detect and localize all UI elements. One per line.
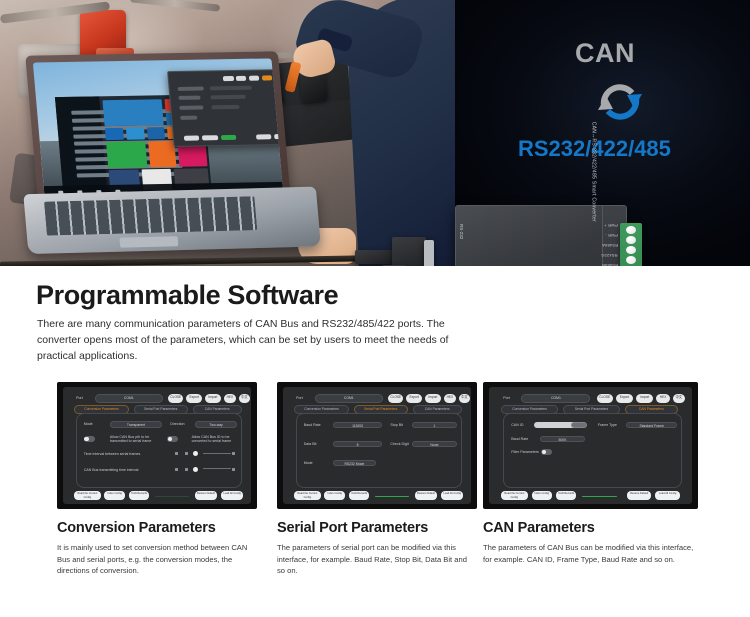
hero-banner: CAN RS232/422/485 CAN↔RS-232/422/485 Sma… xyxy=(0,0,750,266)
laptop-base xyxy=(23,187,321,254)
start-tile xyxy=(126,127,145,140)
restore-default-button[interactable]: Restore Default xyxy=(195,491,218,500)
laptop-screen xyxy=(33,58,283,198)
terminal-label: PWR + xyxy=(604,223,618,228)
filter-parameters-toggle[interactable] xyxy=(541,449,552,455)
export-button[interactable]: Export xyxy=(186,394,202,403)
data-bit-select[interactable]: 8 xyxy=(333,441,382,448)
index-config-button[interactable]: Index Config xyxy=(324,491,345,500)
terminal-label: RS422G xyxy=(601,253,618,258)
mode-select[interactable]: RS232 Mode xyxy=(333,460,375,467)
software-screenshot-can[interactable]: Port COM1 CLOSE Export Import HEX 中文 Con… xyxy=(483,382,698,509)
terminal-label: RS485A xyxy=(602,243,618,248)
product-feature-page: CAN RS232/422/485 CAN↔RS-232/422/485 Sma… xyxy=(0,0,750,617)
language-button[interactable]: 中文 xyxy=(239,394,250,403)
panel-body: Baud Rate 115200 Stop Bit 1 Data Bit 8 C… xyxy=(296,413,461,488)
port-label: Port xyxy=(296,396,303,400)
language-button[interactable]: 中文 xyxy=(673,394,685,403)
mode-select[interactable]: Transparent xyxy=(110,421,162,428)
start-tile xyxy=(146,127,165,140)
cycle-arrows-icon xyxy=(592,76,648,126)
filter-parameters-label: Filter Parameters xyxy=(511,450,539,454)
start-tile xyxy=(148,141,177,167)
port-select[interactable]: COM1 xyxy=(95,394,163,403)
toggle-can-id-to-serial[interactable] xyxy=(167,436,178,442)
mode-label: Mode xyxy=(304,461,313,465)
toggle-can-to-serial[interactable] xyxy=(84,436,95,442)
can-label: CAN xyxy=(575,38,635,69)
dsub-faceplate xyxy=(424,240,434,266)
mode-label: Mode xyxy=(84,422,93,426)
feature-column-conversion: Port COM1 CLOSE Export Import HEX 中文 Con… xyxy=(57,382,257,577)
import-button[interactable]: Import xyxy=(636,394,653,403)
screw-terminal-block xyxy=(620,223,642,266)
close-button[interactable]: CLOSE xyxy=(388,394,403,403)
dsub-connector-lower xyxy=(382,265,406,266)
hex-button[interactable]: HEX xyxy=(444,394,456,403)
can-interval-label: CAN Bus transmitting time interval xyxy=(84,468,139,472)
load-all-config-button[interactable]: Load All Config xyxy=(655,491,679,500)
can-id-label: CAN ID xyxy=(511,423,523,427)
index-config-button[interactable]: Index Config xyxy=(104,491,125,500)
check-digit-select[interactable]: None xyxy=(412,441,458,448)
terminal-label: RS485B xyxy=(602,263,618,266)
hex-button[interactable]: HEX xyxy=(656,394,669,403)
caption-description: The parameters of serial port can be mod… xyxy=(277,542,477,577)
content-section: Programmable Software There are many com… xyxy=(0,266,750,617)
baud-rate-select[interactable]: 115200 xyxy=(333,422,382,429)
laptop-lid xyxy=(25,51,291,205)
stop-bit-select[interactable]: 1 xyxy=(412,422,458,429)
port-label: Port xyxy=(76,396,83,400)
check-digit-label: Check Digit xyxy=(390,442,408,446)
device-rs232-port-label: RS-232 xyxy=(459,224,464,239)
load-all-config-button[interactable]: Load All Config xyxy=(441,491,464,500)
terminal-label: PWR - xyxy=(605,233,618,238)
laptop-keyboard xyxy=(44,196,257,235)
caption-description: The parameters of CAN Bus can be modifie… xyxy=(483,542,698,565)
restore-default-button[interactable]: Restore Default xyxy=(627,491,651,500)
software-screenshot-conversion[interactable]: Port COM1 CLOSE Export Import HEX 中文 Con… xyxy=(57,382,257,509)
start-tile xyxy=(105,128,124,141)
can-interval-slider[interactable] xyxy=(193,467,198,472)
software-screenshot-serial[interactable]: Port COM1 CLOSE Export Import HEX 中文 Con… xyxy=(277,382,477,509)
stop-bit-label: Stop Bit xyxy=(390,423,403,427)
can-id-set-button[interactable] xyxy=(571,422,587,429)
import-button[interactable]: Import xyxy=(205,394,221,403)
export-button[interactable]: Export xyxy=(616,394,633,403)
read-current-config-button[interactable]: Read the Current Config xyxy=(294,491,320,500)
feature-column-can: Port COM1 CLOSE Export Import HEX 中文 Con… xyxy=(483,382,698,565)
device-model-text: CAN↔RS-232/422/485 Smart Converter xyxy=(590,122,596,222)
start-tile xyxy=(103,99,164,125)
frame-type-select[interactable]: Standard Frame xyxy=(626,422,677,429)
port-select[interactable]: COM1 xyxy=(521,394,590,403)
port-select[interactable]: COM1 xyxy=(315,394,383,403)
caption-title: CAN Parameters xyxy=(483,520,698,536)
direction-label: Direction xyxy=(170,422,184,426)
engine-hose xyxy=(130,0,220,12)
import-button[interactable]: Import xyxy=(425,394,441,403)
close-button[interactable]: CLOSE xyxy=(168,394,183,403)
caption-title: Conversion Parameters xyxy=(57,520,257,536)
panel-body: CAN ID Frame Type Standard Frame Baud Ra… xyxy=(503,413,682,488)
caption-title: Serial Port Parameters xyxy=(277,520,477,536)
baud-rate-label: Baud Rate xyxy=(511,437,528,441)
toggle-can-to-serial-label: Allow CAN Bus pth to be transmitted to s… xyxy=(110,435,166,443)
start-tile-xbox xyxy=(106,142,147,168)
section-description: There are many communication parameters … xyxy=(37,316,462,364)
data-bit-label: Data Bit xyxy=(304,442,317,446)
load-all-config-button[interactable]: Load All Config xyxy=(221,491,244,500)
baud-rate-label: Baud Rate xyxy=(304,423,321,427)
laptop xyxy=(26,40,320,259)
read-current-config-button[interactable]: Read the Current Config xyxy=(74,491,100,500)
dsub-backshell xyxy=(355,250,393,264)
language-button[interactable]: 中文 xyxy=(459,394,470,403)
restore-default-button[interactable]: Restore Default xyxy=(415,491,438,500)
feature-column-serial: Port COM1 CLOSE Export Import HEX 中文 Con… xyxy=(277,382,477,577)
export-button[interactable]: Export xyxy=(406,394,422,403)
serial-interval-slider[interactable] xyxy=(193,451,198,456)
can-records-button[interactable]: CAN Records xyxy=(349,491,370,500)
caption-description: It is mainly used to set conversion meth… xyxy=(57,542,257,577)
panel-body: Mode Transparent Direction Two-way Allow… xyxy=(76,413,241,488)
index-config-button[interactable]: Index Config xyxy=(532,491,552,500)
dsub-connector xyxy=(392,237,426,266)
terminal-label-column: PWR + PWR - RS485A RS422G RS485B RS422D … xyxy=(596,222,618,266)
converter-software-window xyxy=(167,69,283,147)
laptop-trackpad xyxy=(119,236,178,247)
close-button[interactable]: CLOSE xyxy=(597,394,613,403)
serial-interval-label: Time interval between serial frames xyxy=(84,452,141,456)
can-records-button[interactable]: CAN Records xyxy=(556,491,576,500)
toggle-can-id-to-serial-label: Allow CAN Bus ID to be converted to seri… xyxy=(192,435,241,443)
hex-button[interactable]: HEX xyxy=(224,394,236,403)
frame-type-label: Frame Type xyxy=(598,423,617,427)
page-title: Programmable Software xyxy=(36,280,338,311)
direction-select[interactable]: Two-way xyxy=(195,421,237,428)
can-records-button[interactable]: CAN Records xyxy=(129,491,150,500)
port-label: Port xyxy=(503,396,510,400)
read-current-config-button[interactable]: Read the Current Config xyxy=(501,491,527,500)
baud-rate-select[interactable]: 500K xyxy=(540,436,586,443)
